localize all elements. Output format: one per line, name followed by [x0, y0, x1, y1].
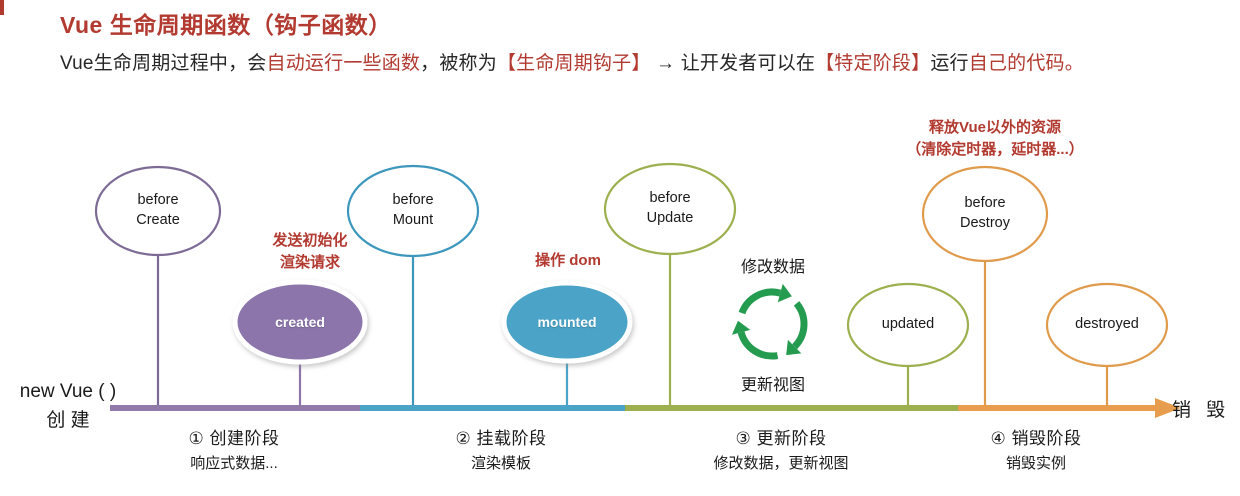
- phase-subtitle: 响应式数据...: [119, 452, 349, 473]
- annotation-release-resources: 释放Vue以外的资源 （清除定时器，延时器...）: [880, 117, 1110, 161]
- axis-start-label: new Vue ( ) 创 建: [8, 378, 128, 435]
- hook-ellipse-beforeUpdate[interactable]: [605, 164, 735, 254]
- annotation-refresh-view: 更新视图: [713, 374, 833, 397]
- phase-title: ① 创建阶段: [119, 424, 349, 449]
- hook-ellipse-beforeCreate[interactable]: [96, 167, 220, 255]
- cycle-arc-1: [795, 303, 804, 346]
- phase-phase-1: ① 创建阶段响应式数据...: [119, 424, 349, 473]
- phase-title: ② 挂载阶段: [386, 424, 616, 449]
- axis-end-label: 销 毁: [1172, 395, 1230, 422]
- hook-ellipse-updated[interactable]: [848, 284, 968, 366]
- annotation-send-init-request: 发送初始化 渲染请求: [243, 230, 377, 274]
- hook-ellipse-destroyed[interactable]: [1047, 284, 1167, 366]
- phase-phase-4: ④ 销毁阶段销毁实例: [921, 424, 1151, 473]
- hook-ellipse-created[interactable]: [235, 282, 365, 362]
- timeline-axis: [110, 398, 1181, 418]
- hook-ellipse-beforeDestroy[interactable]: [923, 167, 1047, 261]
- annotation-operate-dom: 操作 dom: [508, 250, 628, 272]
- refresh-cycle-icon: [732, 284, 804, 356]
- phase-title: ③ 更新阶段: [666, 424, 896, 449]
- phase-subtitle: 渲染模板: [386, 452, 616, 473]
- phase-subtitle: 销毁实例: [921, 452, 1151, 473]
- phase-title: ④ 销毁阶段: [921, 424, 1151, 449]
- phase-subtitle: 修改数据，更新视图: [666, 452, 896, 473]
- phase-phase-2: ② 挂载阶段渲染模板: [386, 424, 616, 473]
- cycle-arc-0: [742, 292, 780, 313]
- cycle-arc-2: [741, 332, 777, 356]
- annotation-modify-data: 修改数据: [713, 256, 833, 279]
- slide-canvas: Vue 生命周期函数（钩子函数） Vue生命周期过程中，会自动运行一些函数，被称…: [0, 0, 1240, 496]
- hook-ellipse-mounted[interactable]: [504, 283, 630, 361]
- lifecycle-diagram: [0, 0, 1240, 496]
- phase-phase-3: ③ 更新阶段修改数据，更新视图: [666, 424, 896, 473]
